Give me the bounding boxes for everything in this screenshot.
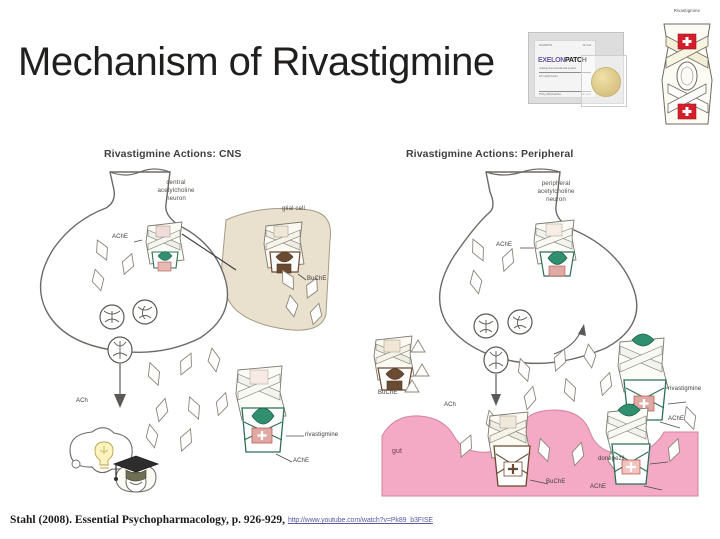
cns-neuron-label-l3: neuron	[139, 195, 213, 203]
exelon-patch-box: NOVARTIS 10 cm2 EXELONPATCH rivastigmine…	[528, 32, 624, 104]
per-ach-label: ACh	[444, 402, 456, 410]
youtube-link[interactable]: http://www.youtube.com/watch?v=Pk89_b3FI…	[288, 517, 433, 524]
per-neuron-label: peripheral acetylcholine neuron	[518, 180, 594, 203]
per-ache-top-label: AChE	[496, 242, 512, 250]
per-buche-gut-label: BuChE	[546, 479, 566, 487]
signal-arrow-cns	[114, 364, 126, 408]
per-neuron-label-l1: peripheral	[518, 180, 594, 188]
rivastigmine-bound-ache-icon-cns	[236, 366, 304, 462]
buche-enzyme-icon-cns	[264, 222, 304, 273]
per-neuron-label-l2: acetylcholine	[518, 188, 594, 196]
panel-heading-peripheral: Rivastigmine Actions: Peripheral	[406, 148, 573, 160]
peripheral-diagram-svg	[368, 164, 712, 504]
footer-citation: Stahl (2008). Essential Psychopharmacolo…	[10, 514, 433, 526]
diagram-peripheral: peripheral acetylcholine neuron AChE BuC…	[368, 164, 712, 504]
panel-heading-cns: Rivastigmine Actions: CNS	[104, 148, 241, 160]
cns-diagram-svg	[30, 164, 360, 504]
box-brand-name: EXELONPATCH	[538, 57, 587, 64]
box-subtitle: rivastigmine transdermal system	[539, 67, 576, 70]
cns-ache-bottom-label: AChE	[293, 458, 309, 466]
per-rivastigmine-label: rivastigmine	[668, 386, 701, 394]
page-title: Mechanism of Rivastigmine	[18, 40, 495, 85]
cns-ache-top-label: AChE	[112, 234, 128, 242]
per-gut-label: gut	[392, 448, 402, 457]
released-ach-cns	[144, 347, 232, 453]
box-manufacturer: NOVARTIS	[539, 44, 552, 47]
box-size: 10 cm2	[582, 44, 591, 47]
cns-neuron-label-l2: acetylcholine	[139, 187, 213, 195]
molecule-label: Rivastigmine	[652, 8, 720, 13]
citation-text: Stahl (2008). Essential Psychopharmacolo…	[10, 514, 285, 526]
rivastigmine-molecule-figure	[656, 18, 718, 130]
per-ache-gut-label: AChE	[590, 484, 606, 492]
per-donepezil-label: donepezil	[598, 456, 625, 464]
cns-glial-cell-label: glial cell	[282, 205, 305, 213]
per-buche-left-label: BuChE	[378, 390, 398, 398]
cns-neuron-label-l1: central	[139, 179, 213, 187]
box-strength: 9.5 mg/24 hours	[539, 75, 558, 78]
graduate-figure-icon-cns	[114, 456, 158, 492]
box-count: Thirty (30) Patches	[539, 93, 561, 96]
per-ache-right-label: AChE	[668, 416, 684, 424]
buche-enzyme-icon-per	[374, 336, 414, 390]
cns-ach-label: ACh	[76, 398, 88, 406]
brand-exelon: EXELON	[538, 57, 565, 64]
cns-rivastigmine-label: rivastigmine	[305, 432, 338, 440]
per-neuron-label-l3: neuron	[518, 196, 594, 204]
slide-canvas: Mechanism of Rivastigmine NOVARTIS 10 cm…	[0, 0, 720, 539]
diagram-cns: central acetylcholine neuron AChE glial …	[30, 164, 360, 504]
cns-buche-label: BuChE	[307, 276, 327, 284]
product-image-group: NOVARTIS 10 cm2 EXELONPATCH rivastigmine…	[524, 4, 720, 132]
transdermal-patch-disc-icon	[591, 67, 621, 97]
cns-neuron-label: central acetylcholine neuron	[139, 179, 213, 202]
